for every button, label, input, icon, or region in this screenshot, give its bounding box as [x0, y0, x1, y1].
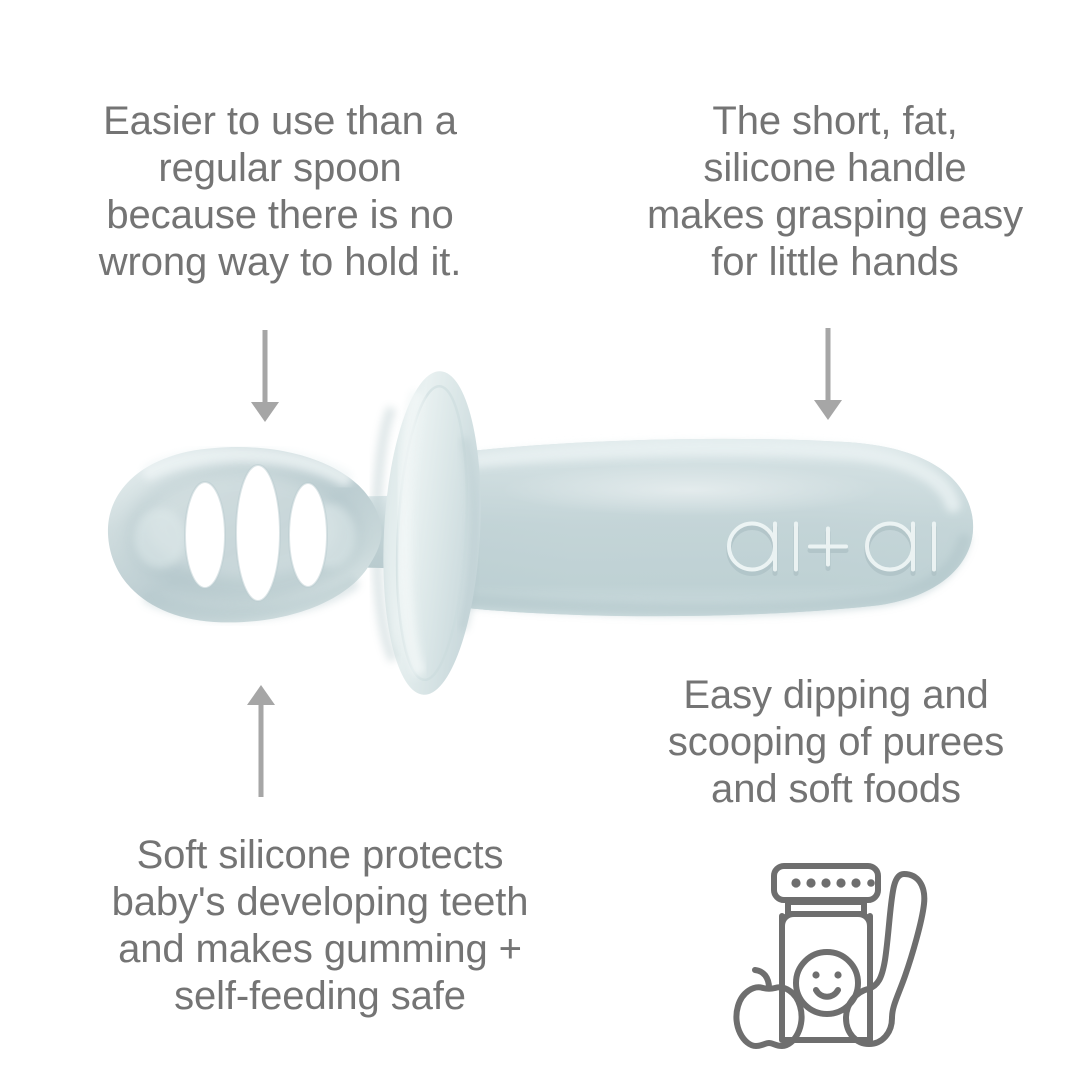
caption-easier-to-use: Easier to use than a regular spoon becau…	[44, 98, 516, 286]
infographic-canvas: Easier to use than a regular spoon becau…	[0, 0, 1080, 1080]
spoon-head-slots	[185, 465, 327, 601]
caption-soft-silicone: Soft silicone protects baby's developing…	[50, 832, 590, 1020]
apple-icon	[736, 970, 801, 1046]
spoon-head-part	[108, 447, 382, 622]
caption-silicone-handle: The short, fat, silicone handle makes gr…	[600, 98, 1070, 286]
product-image-silicone-baby-spoon	[0, 330, 1080, 730]
spoon-shield-part	[376, 369, 489, 698]
baby-food-jar-apple-spoon-icon	[722, 858, 954, 1053]
jar-lid-dots	[791, 878, 874, 887]
